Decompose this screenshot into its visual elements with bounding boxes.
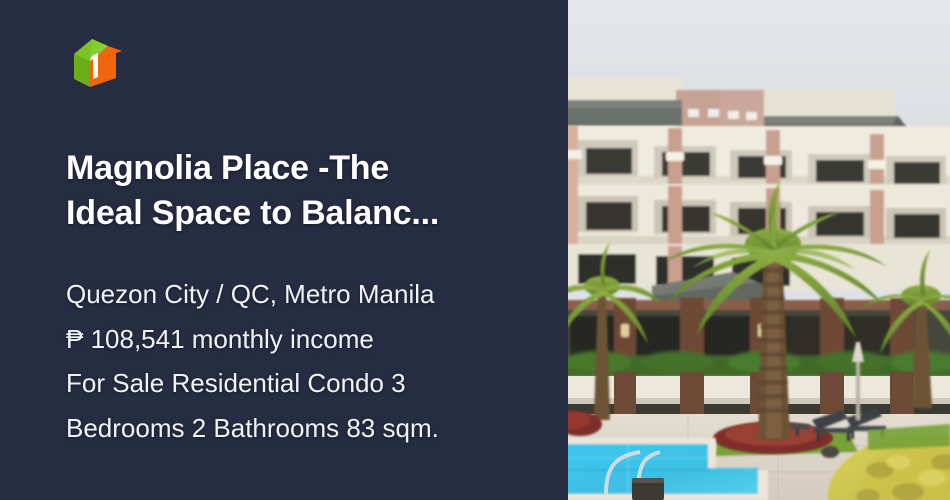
listing-title[interactable]: Magnolia Place -The Ideal Space to Balan… bbox=[66, 146, 536, 236]
listing-details-block: Quezon City / QC, Metro Manila ₱ 108,541… bbox=[66, 272, 546, 451]
property-listing-card[interactable]: Magnolia Place -The Ideal Space to Balan… bbox=[0, 0, 950, 500]
listing-info-panel: Magnolia Place -The Ideal Space to Balan… bbox=[0, 0, 568, 500]
listing-price: ₱ 108,541 monthly income bbox=[66, 317, 546, 362]
listing-location: Quezon City / QC, Metro Manila bbox=[66, 272, 546, 317]
listing-specs: For Sale Residential Condo 3 Bedrooms 2 … bbox=[66, 361, 546, 450]
property-photo[interactable] bbox=[568, 0, 950, 500]
lamudi-house-logo-icon[interactable] bbox=[66, 34, 124, 92]
